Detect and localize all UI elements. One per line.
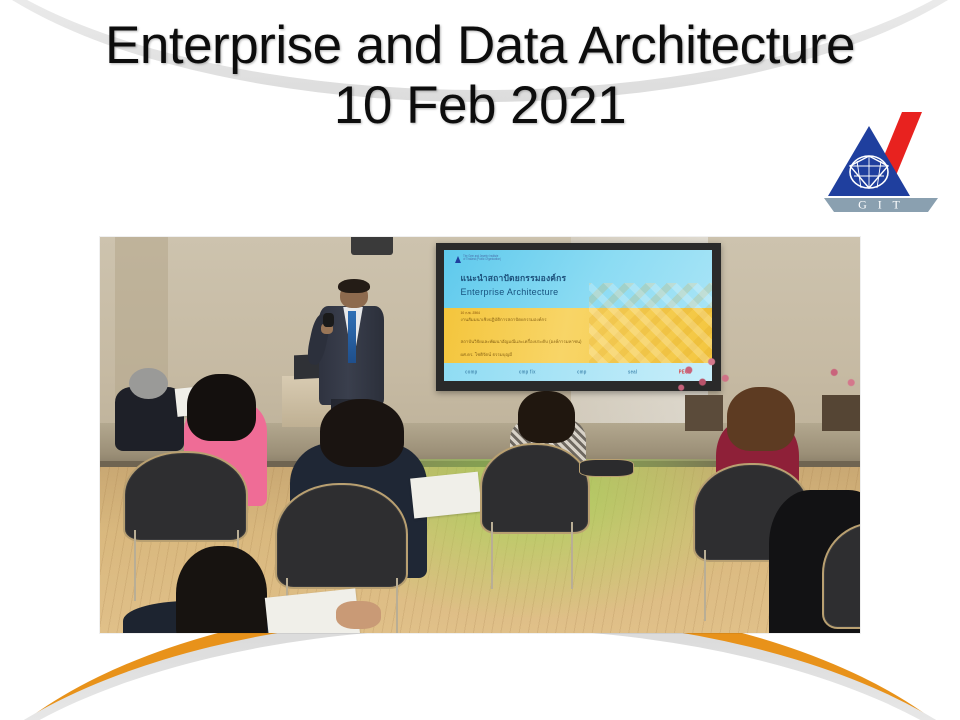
projected-slide-body-3: ผศ.ดร. โชติรัตน์ ธรรมบุญมี [461, 351, 622, 358]
seminar-photo: The Gem and Jewelry Institute of Thailan… [100, 237, 860, 633]
photo-chair-3 [480, 443, 590, 534]
photo-foreground-attendee-head [176, 546, 267, 633]
slide-title-line-2: 10 Feb 2021 [0, 76, 960, 136]
photo-chair-1 [123, 451, 249, 542]
slide-title-block: Enterprise and Data Architecture 10 Feb … [0, 16, 960, 136]
slide-canvas: Enterprise and Data Architecture 10 Feb … [0, 0, 960, 720]
photo-attendee-2-hair [187, 374, 255, 441]
photo-attendee-3-paper [410, 471, 482, 518]
photo-speaker-hair [338, 279, 370, 293]
projected-slide-body-2: สถาบันวิจัยและพัฒนาอัญมณีและเครื่องประดั… [461, 338, 665, 345]
projected-slide-logo-comp: comp [465, 369, 477, 375]
git-logo-letters: G I T [858, 198, 904, 212]
projected-slide-date: 10 ก.พ. 2564 [461, 311, 480, 316]
git-logo: G I T [824, 104, 938, 212]
projected-slide-brand-line-2: of Thailand (Public Organization) [463, 259, 501, 263]
photo-chair-2-leg-b [396, 578, 398, 633]
photo-chair-2 [275, 483, 408, 590]
photo-plant-pot-left [685, 395, 723, 431]
photo-plant-pot-right [822, 395, 860, 431]
projected-slide-logo-cmpfix: cmp fix [519, 369, 536, 375]
projected-slide-heading-thai: แนะนำสถาปัตยกรรมองค์กร [461, 271, 567, 285]
photo-foreground-hand [336, 601, 382, 629]
photo-attendee-3-head [320, 399, 404, 466]
projected-slide-body-1: งานสัมมนาเชิงปฏิบัติการสถาปัตยกรรมองค์กร [461, 317, 654, 324]
photo-attendee-5-hair [727, 387, 795, 450]
projected-slide-logo-seal: seal [628, 369, 637, 375]
slide-title-line-1: Enterprise and Data Architecture [0, 16, 960, 76]
photo-chair-3-leg-a [491, 522, 493, 589]
photo-chair-1-leg-a [134, 530, 136, 601]
photo-attendee-4-hair [518, 391, 575, 442]
projected-slide-heading-english: Enterprise Architecture [461, 287, 559, 297]
projected-slide-brand-triangle-icon [455, 256, 461, 263]
photo-speaker-microphone [323, 313, 334, 327]
photo-speaker-tie [348, 311, 357, 362]
photo-ceiling-projector [351, 237, 393, 255]
photo-chair-4-leg-a [704, 550, 706, 621]
photo-chair-3-leg-b [571, 522, 573, 589]
projected-slide-logo-cmp: cmp [577, 369, 587, 375]
photo-chair-3-tablet-arm [579, 459, 634, 477]
projected-slide-brandmark: The Gem and Jewelry Institute of Thailan… [455, 256, 501, 263]
git-logo-diamond-icon [850, 156, 888, 188]
